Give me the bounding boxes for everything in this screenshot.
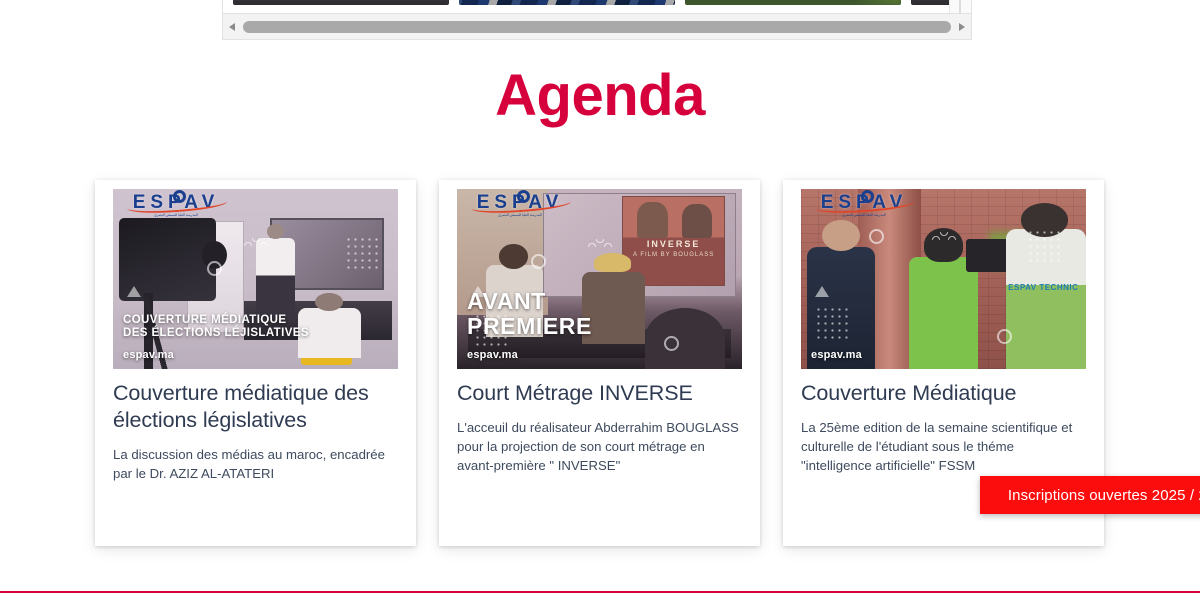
carousel-thumb-1[interactable] (233, 0, 449, 5)
agenda-card-list: ESPAV المدرسة العليا للسمعي البصري COUVE… (95, 180, 1105, 546)
page-title: Agenda (0, 62, 1200, 129)
photo-carousel[interactable] (222, 0, 972, 40)
card-title: Couverture médiatique des élections légi… (113, 380, 400, 434)
agenda-card[interactable]: ESPAV المدرسة العليا للسمعي البصري COUVE… (95, 180, 416, 546)
card-body: Couverture médiatique des élections légi… (113, 380, 400, 483)
overlay-line-1: COUVERTURE MÉDIATIQUE (123, 314, 388, 326)
poster-subtitle: A FILM BY BOUGLASS (623, 252, 724, 258)
card-title: Couverture Médiatique (801, 380, 1088, 407)
decor-circle (869, 229, 884, 244)
horizontal-scroll-thumb[interactable] (243, 21, 951, 33)
decor-dots (1027, 229, 1063, 263)
card-image-art: ESPAV TECHNIC (801, 189, 1086, 369)
poster-title: INVERSE (623, 239, 724, 249)
image-site-label: espav.ma (467, 349, 518, 361)
card-body: Couverture Médiatique La 25ème edition d… (801, 380, 1088, 475)
scroll-left-arrow-icon[interactable] (223, 14, 241, 40)
decor-triangle (815, 286, 829, 297)
overlay-line-1: AVANT (467, 289, 732, 314)
decor-wave (932, 232, 960, 240)
card-description: La 25ème edition de la semaine scientifi… (801, 418, 1088, 475)
carousel-track[interactable] (223, 0, 972, 13)
footer-accent-rule (0, 591, 1200, 593)
card-description: L'acceuil du réalisateur Abderrahim BOUG… (457, 418, 744, 475)
card-body: Court Métrage INVERSE L'acceuil du réali… (457, 380, 744, 475)
card-image-art (113, 189, 398, 369)
image-overlay-title: AVANT PREMIERE (467, 289, 732, 339)
carousel-horizontal-scrollbar[interactable] (223, 13, 971, 39)
carousel-thumb-3[interactable] (685, 0, 901, 5)
card-image: ESPAV TECHNIC ESPAV المدرسة العليا للسمع… (801, 189, 1086, 369)
decor-circle (207, 261, 222, 276)
card-image: ESPAV المدرسة العليا للسمعي البصري COUVE… (113, 189, 398, 369)
image-overlay-title: COUVERTURE MÉDIATIQUE DES ÉLECTIONS LÉJI… (123, 314, 388, 339)
page-root: Agenda ESPAV المدرسة العلي (0, 0, 1200, 600)
vertical-scroll-track[interactable] (959, 0, 961, 13)
scroll-right-arrow-icon[interactable] (953, 14, 971, 40)
card-image: INVERSE A FILM BY BOUGLASS ESPAV المدرس (457, 189, 742, 369)
decor-wave (588, 239, 616, 247)
agenda-card[interactable]: INVERSE A FILM BY BOUGLASS ESPAV المدرس (439, 180, 760, 546)
overlay-line-2: DES ÉLECTIONS LÉJISLATIVES (123, 327, 388, 339)
decor-dots (815, 306, 851, 340)
image-site-label: espav.ma (123, 349, 174, 361)
overlay-line-2: PREMIERE (467, 314, 732, 339)
decor-circle (997, 329, 1012, 344)
carousel-thumb-2[interactable] (459, 0, 675, 5)
carousel-vertical-scrollbar[interactable] (949, 0, 971, 13)
image-site-label: espav.ma (811, 349, 862, 361)
card-title: Court Métrage INVERSE (457, 380, 744, 407)
shirt-text: ESPAV TECHNIC (1006, 283, 1080, 292)
promo-banner[interactable]: Inscriptions ouvertes 2025 / 2026 (980, 476, 1200, 514)
decor-triangle (127, 286, 141, 297)
card-description: La discussion des médias au maroc, encad… (113, 445, 400, 483)
decor-dots (345, 236, 381, 270)
decor-circle (531, 254, 546, 269)
decor-wave (244, 238, 272, 246)
